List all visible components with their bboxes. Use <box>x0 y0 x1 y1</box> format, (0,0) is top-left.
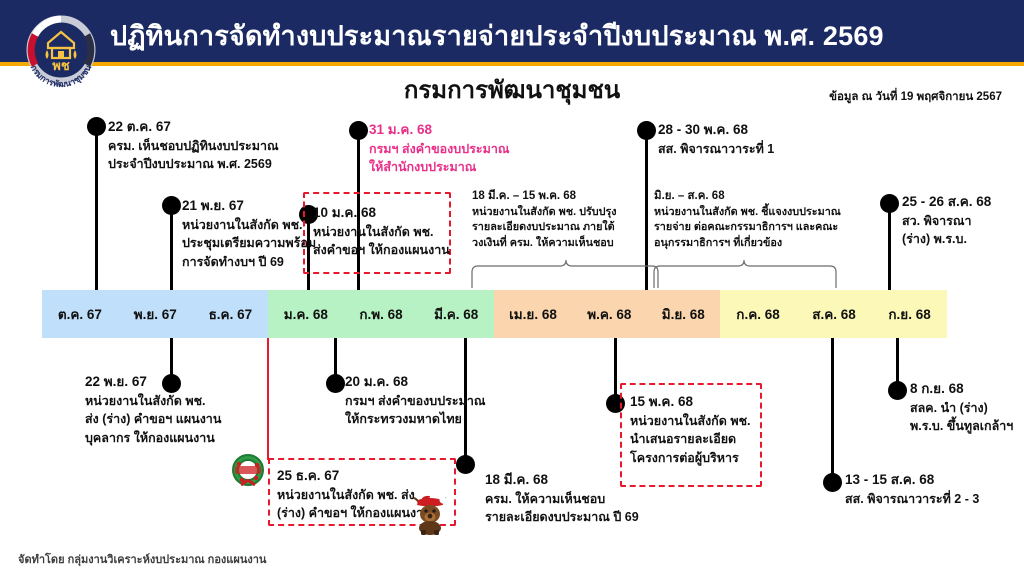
note-line: โครงการต่อผู้บริหาร <box>630 449 775 468</box>
note-date: 18 มี.ค. – 15 พ.ค. 68 <box>472 188 652 205</box>
note-line: ส่งคำขอฯ ให้กองแผนงาน <box>313 241 463 260</box>
footer-credit: จัดทำโดย กลุ่มงานวิเคราะห์งบประมาณ กองแผ… <box>18 550 266 568</box>
note-18mar68: 18 มี.ค. 68 ครม. ให้ความเห็นชอบ รายละเอี… <box>485 470 685 527</box>
note-line: สส. พิจารณาวาระที่ 2 - 3 <box>845 490 1024 509</box>
note-22nov67: 22 พ.ย. 67 หน่วยงานในสังกัด พช. ส่ง (ร่า… <box>85 372 275 448</box>
note-line: ให้สำนักงบประมาณ <box>369 158 569 177</box>
note-date: 25 ธ.ค. 67 <box>277 466 457 486</box>
note-date: 10 ม.ค. 68 <box>313 203 463 223</box>
note-line: ครม. ให้ความเห็นชอบ <box>485 490 685 509</box>
brace-jun-aug <box>652 258 842 288</box>
month-label: เม.ย. 68 <box>509 303 557 325</box>
header-accent-line <box>0 62 1024 66</box>
marker-31jan68 <box>349 121 368 140</box>
note-line: กรมฯ ส่งคำของบประมาณ <box>369 140 569 159</box>
brace-mar-may <box>470 258 665 288</box>
quarter-q2: ม.ค. 68 ก.พ. 68 มี.ค. 68 <box>268 290 494 338</box>
note-line: ครม. เห็นชอบปฏิทินงบประมาณ <box>108 137 323 156</box>
marker-25-26aug68 <box>880 194 899 213</box>
timeline-bar: ต.ค. 67 พ.ย. 67 ธ.ค. 67 ม.ค. 68 ก.พ. 68 … <box>42 290 947 338</box>
stem-25-26aug68 <box>888 203 891 290</box>
marker-13-15aug68 <box>823 473 842 492</box>
month-label: พ.ค. 68 <box>587 303 631 325</box>
note-13-15aug68: 13 - 15 ส.ค. 68 สส. พิจารณาวาระที่ 2 - 3 <box>845 470 1024 508</box>
note-28-30may68: 28 - 30 พ.ค. 68 สส. พิจารณาวาระที่ 1 <box>658 120 873 158</box>
quarter-q1: ต.ค. 67 พ.ย. 67 ธ.ค. 67 <box>42 290 268 338</box>
note-line: นำเสนอรายละเอียด <box>630 430 775 449</box>
note-line: พ.ร.บ. ขึ้นทูลเกล้าฯ <box>910 417 1024 436</box>
month-label: ก.ค. 68 <box>736 303 779 325</box>
christmas-reindeer-icon <box>410 492 450 541</box>
note-line: ส่ง (ร่าง) คำขอฯ แผนงาน <box>85 410 275 429</box>
note-date: 25 - 26 ส.ค. 68 <box>902 192 1024 212</box>
note-line: สว. พิจารณา <box>902 212 1024 231</box>
note-31jan68: 31 ม.ค. 68 กรมฯ ส่งคำของบประมาณ ให้สำนัก… <box>369 120 569 177</box>
note-8sep68: 8 ก.ย. 68 สลค. นำ (ร่าง) พ.ร.บ. ขึ้นทูลเ… <box>910 379 1024 436</box>
stem-13-15aug68 <box>831 338 834 480</box>
note-date: 20 ม.ค. 68 <box>345 372 540 392</box>
note-20jan68: 20 ม.ค. 68 กรมฯ ส่งคำของบประมาณ ให้กระทร… <box>345 372 540 429</box>
page-title: ปฏิทินการจัดทำงบประมาณรายจ่ายประจำปีงบปร… <box>110 14 990 57</box>
note-line: หน่วยงานในสังกัด พช. ชี้แจงงบประมาณ <box>654 205 864 221</box>
calendar-infographic: พช กรมการพัฒนาชุมชน ปฏิทินการจัดทำงบประม… <box>0 0 1024 576</box>
note-date: 22 ต.ค. 67 <box>108 117 323 137</box>
month-label: มี.ค. 68 <box>434 303 478 325</box>
note-date: 13 - 15 ส.ค. 68 <box>845 470 1024 490</box>
note-line: กรมฯ ส่งคำของบประมาณ <box>345 392 540 411</box>
note-10jan68: 10 ม.ค. 68 หน่วยงานในสังกัด พช. ส่งคำขอฯ… <box>313 203 463 260</box>
stem-15may68 <box>614 338 617 398</box>
marker-28-30may68 <box>637 121 656 140</box>
stem-22oct67 <box>95 126 98 290</box>
note-date: 8 ก.ย. 68 <box>910 379 1024 399</box>
note-22oct67: 22 ต.ค. 67 ครม. เห็นชอบปฏิทินงบประมาณ ปร… <box>108 117 323 174</box>
note-line: ประจำปีงบประมาณ พ.ศ. 2569 <box>108 155 323 174</box>
note-line: อนุกรรมาธิการฯ ที่เกี่ยวข้อง <box>654 236 864 252</box>
month-label: ธ.ค. 67 <box>209 303 253 325</box>
note-line: ให้กระทรวงมหาดไทย <box>345 410 540 429</box>
month-label: ต.ค. 67 <box>58 303 102 325</box>
note-date: 31 ม.ค. 68 <box>369 120 569 140</box>
month-label: พ.ย. 67 <box>134 303 177 325</box>
christmas-wreath-icon <box>230 452 266 493</box>
note-line: หน่วยงานในสังกัด พช. <box>313 223 463 242</box>
month-label: ก.พ. 68 <box>359 303 402 325</box>
note-date: 22 พ.ย. 67 <box>85 372 275 392</box>
note-line: หน่วยงานในสังกัด พช. <box>85 392 275 411</box>
marker-18mar68 <box>456 455 475 474</box>
note-line: รายจ่าย ต่อคณะกรรมาธิการฯ และคณะ <box>654 220 864 236</box>
note-line: วงเงินที่ ครม. ให้ความเห็นชอบ <box>472 236 652 252</box>
quarter-q3: เม.ย. 68 พ.ค. 68 มิ.ย. 68 <box>494 290 720 338</box>
note-25-26aug68: 25 - 26 ส.ค. 68 สว. พิจารณา (ร่าง) พ.ร.บ… <box>902 192 1024 249</box>
month-label: ม.ค. 68 <box>284 303 328 325</box>
note-date: 15 พ.ค. 68 <box>630 392 775 412</box>
month-label: มิ.ย. 68 <box>662 303 705 325</box>
note-18mar-15may68: 18 มี.ค. – 15 พ.ค. 68 หน่วยงานในสังกัด พ… <box>472 188 652 252</box>
note-15may68: 15 พ.ค. 68 หน่วยงานในสังกัด พช. นำเสนอรา… <box>630 392 775 468</box>
note-line: รายละเอียดงบประมาณ ภายใต้ <box>472 220 652 236</box>
marker-22oct67 <box>87 117 106 136</box>
marker-21nov67 <box>162 196 181 215</box>
marker-8sep68 <box>888 381 907 400</box>
month-label: ส.ค. 68 <box>812 303 856 325</box>
note-line: สลค. นำ (ร่าง) <box>910 399 1024 418</box>
stem-21nov67 <box>170 205 173 290</box>
note-line: บุคลากร ให้กองแผนงาน <box>85 429 275 448</box>
note-line: (ร่าง) พ.ร.บ. <box>902 230 1024 249</box>
as-of-date: ข้อมูล ณ วันที่ 19 พฤศจิกายน 2567 <box>829 88 1002 106</box>
note-jun-aug68: มิ.ย. – ส.ค. 68 หน่วยงานในสังกัด พช. ชี้… <box>654 188 864 252</box>
note-line: สส. พิจารณาวาระที่ 1 <box>658 140 873 159</box>
quarter-q4: ก.ค. 68 ส.ค. 68 ก.ย. 68 <box>720 290 947 338</box>
month-label: ก.ย. 68 <box>888 303 930 325</box>
note-date: 18 มี.ค. 68 <box>485 470 685 490</box>
note-line: รายละเอียดงบประมาณ ปี 69 <box>485 508 685 527</box>
note-line: หน่วยงานในสังกัด พช. <box>630 412 775 431</box>
note-date: 28 - 30 พ.ค. 68 <box>658 120 873 140</box>
note-line: หน่วยงานในสังกัด พช. ปรับปรุง <box>472 205 652 221</box>
marker-20jan68 <box>326 374 345 393</box>
note-date: มิ.ย. – ส.ค. 68 <box>654 188 864 205</box>
stem-8sep68 <box>896 338 899 386</box>
